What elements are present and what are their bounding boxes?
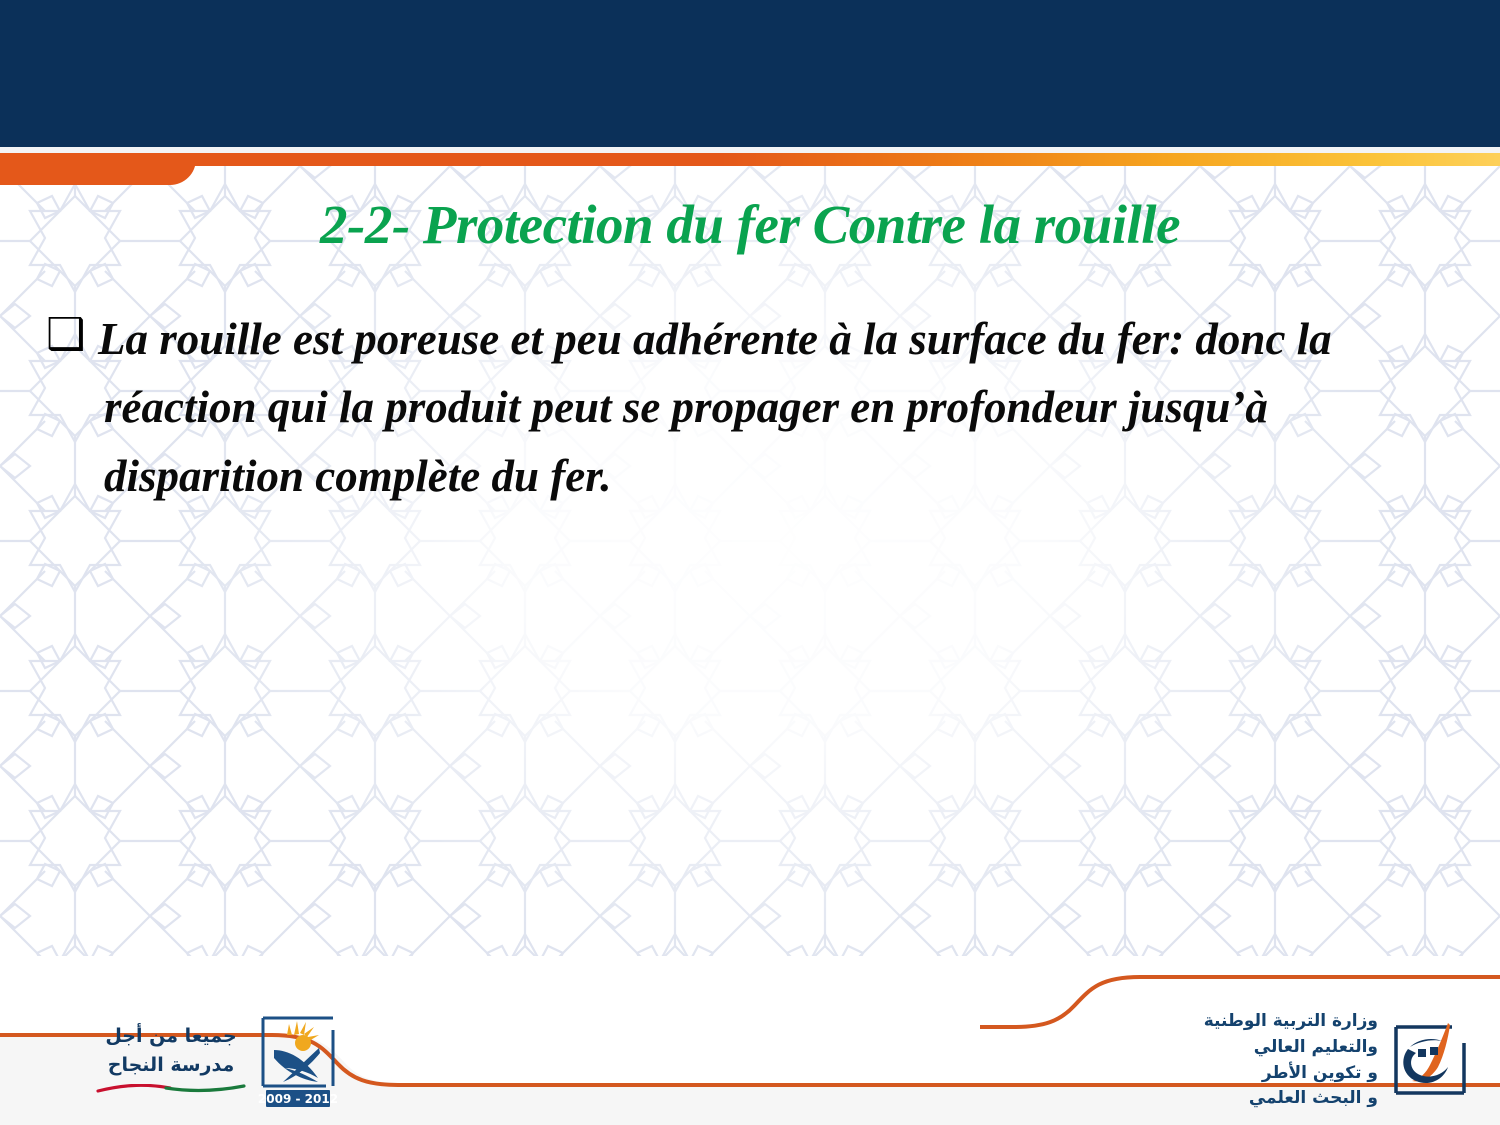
hollow-square-bullet-icon: ❑ [46,305,104,357]
logo-left-years-badge: 2009 - 2012 [258,1092,338,1106]
ministry-logo: وزارة التربية الوطنية والتعليم العالي و … [1204,1008,1482,1113]
ministry-logo-text: وزارة التربية الوطنية والتعليم العالي و … [1204,1009,1378,1112]
school-success-logo-text: جميعا من أجل مدرسة النجاح [96,1022,246,1099]
body-paragraph: La rouille est poreuse et peu adhérente … [104,305,1426,510]
school-success-emblem-icon: 2009 - 2012 [256,1010,340,1110]
watermark-fade-overlay [0,166,1500,956]
ministry-line2: والتعليم العالي [1204,1035,1378,1061]
islamic-star-watermark [0,166,1500,956]
ministry-line4: و البحث العلمي [1204,1086,1378,1112]
header-navy-band [0,0,1500,147]
accent-bar-tab [0,153,196,185]
logo-left-line2: مدرسة النجاح [96,1051,246,1080]
school-success-logo: جميعا من أجل مدرسة النجاح [40,1005,340,1115]
bullet-list-item: ❑ La rouille est poreuse et peu adhérent… [46,305,1426,510]
logo-left-line1: جميعا من أجل [96,1022,246,1051]
accent-bar-gradient [0,153,1500,166]
logo-left-underline-flourish [96,1084,246,1093]
presentation-slide: 2-2- Protection du fer Contre la rouille… [0,0,1500,1125]
page-title: 2-2- Protection du fer Contre la rouille [0,196,1500,254]
ministry-line3: و تكوين الأطر [1204,1061,1378,1087]
ministry-emblem-icon [1386,1015,1482,1107]
content-body: ❑ La rouille est poreuse et peu adhérent… [46,305,1426,510]
ministry-line1: وزارة التربية الوطنية [1204,1009,1378,1035]
